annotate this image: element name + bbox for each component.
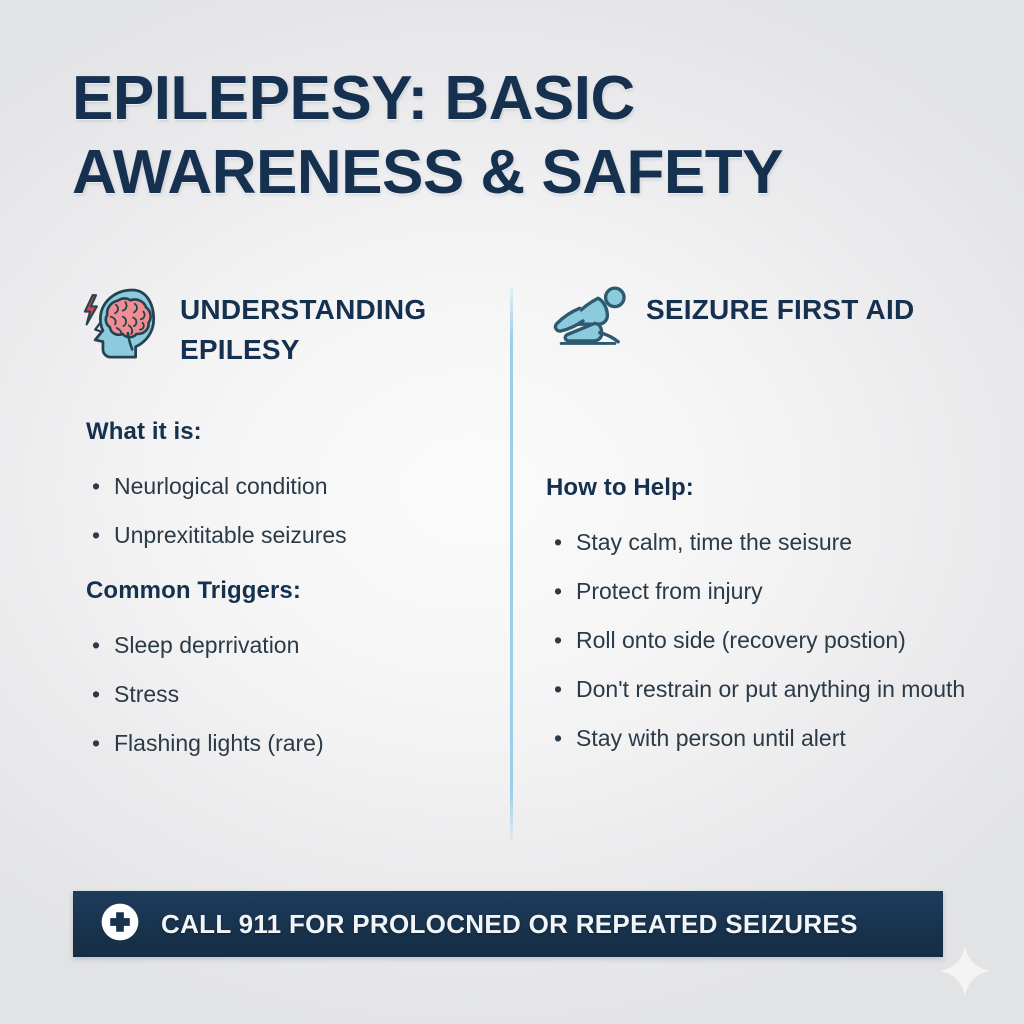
column-seizure-first-aid: SEIZURE FIRST AID How to Help: Stay calm…: [546, 278, 1024, 346]
column-header: SEIZURE FIRST AID: [546, 278, 1024, 346]
list-item: Stay with person until alert: [546, 714, 1024, 763]
section-heading: Common Triggers:: [86, 575, 506, 607]
head-brain-lightning-icon: [78, 278, 164, 364]
list-item: Roll onto side (recovery postion): [546, 616, 1024, 665]
list-item: Protect from injury: [546, 567, 1024, 616]
sparkle-icon: [938, 944, 992, 998]
column-heading-label: UNDERSTANDING EPILESY: [180, 278, 498, 370]
section-heading: What it is:: [86, 416, 506, 448]
list-item: Unprexititable seizures: [86, 511, 506, 560]
column-divider: [510, 286, 513, 842]
list-item: Neurlogical condition: [86, 462, 506, 511]
poster-title: EPILEPESY: BASIC AWARENESS & SAFETY: [72, 62, 952, 210]
section-how-to-help: How to Help: Stay calm, time the seisure…: [546, 472, 1024, 763]
poster-canvas: EPILEPESY: BASIC AWARENESS & SAFETY: [0, 0, 1024, 1024]
section-heading: How to Help:: [546, 472, 1024, 504]
section-what-it-is: What it is: Neurlogical condition Unprex…: [86, 416, 506, 560]
column-understanding-epilepsy: UNDERSTANDING EPILESY What it is: Neurlo…: [78, 278, 498, 370]
bullet-list: Neurlogical condition Unprexititable sei…: [86, 462, 506, 560]
list-item: Sleep deprrivation: [86, 621, 506, 670]
section-common-triggers: Common Triggers: Sleep deprrivation Stre…: [86, 575, 506, 768]
list-item: Flashing lights (rare): [86, 719, 506, 768]
person-recovery-position-icon: [546, 284, 630, 346]
column-header: UNDERSTANDING EPILESY: [78, 278, 498, 370]
column-heading-label: SEIZURE FIRST AID: [646, 278, 914, 330]
emergency-call-banner: CALL 911 FOR PROLOCNED OR REPEATED SEIZU…: [73, 891, 943, 957]
bullet-list: Sleep deprrivation Stress Flashing light…: [86, 621, 506, 768]
list-item: Stay calm, time the seisure: [546, 518, 1024, 567]
bullet-list: Stay calm, time the seisure Protect from…: [546, 518, 1024, 763]
list-item: Don't restrain or put anything in mouth: [546, 665, 1024, 714]
emergency-banner-text: CALL 911 FOR PROLOCNED OR REPEATED SEIZU…: [161, 909, 858, 940]
medical-cross-circle-icon: [99, 901, 141, 948]
list-item: Stress: [86, 670, 506, 719]
title-line-1: EPILEPESY: BASIC: [72, 62, 952, 136]
title-line-2: AWARENESS & SAFETY: [72, 136, 952, 210]
